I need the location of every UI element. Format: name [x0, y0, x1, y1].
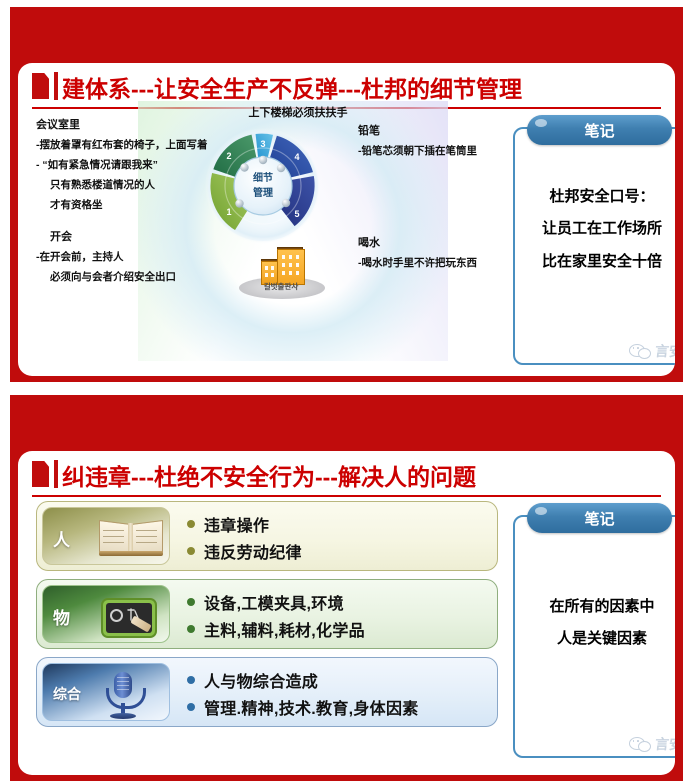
- blackboard-icon: [101, 598, 157, 638]
- detail-management-donut: 1 2 3 4 5 细节 管理: [204, 127, 322, 245]
- category-row-object: 物 设备,工模夹具,环境: [36, 579, 498, 649]
- donut-segment-number-5: 5: [294, 209, 299, 219]
- bullet-text: 违反劳动纪律: [204, 539, 302, 563]
- slide-2-title-row: 纠违章---杜绝不安全行为---解决人的问题: [30, 459, 663, 493]
- slide-2-content: 纠违章---杜绝不安全行为---解决人的问题 人: [18, 451, 675, 775]
- donut-segment-number-1: 1: [226, 207, 231, 217]
- block-open-meeting-line-2: 必须向与会者介绍安全出口: [36, 268, 226, 288]
- bullet-dot-icon: [187, 547, 195, 555]
- block-meeting-room: 会议室里 -摆放着罩有红布套的椅子，上面写着 - “如有紧急情况请跟我来” 只有…: [36, 115, 216, 216]
- list-item: 违章操作: [187, 510, 487, 537]
- bullet-dot-icon: [187, 625, 195, 633]
- building-icon: 길벗출판사: [231, 247, 331, 301]
- flag-icon: [32, 461, 49, 487]
- wechat-icon: [629, 343, 653, 359]
- bullet-text: 主料,辅料,耗材,化学品: [204, 617, 365, 641]
- slide-1-content: 建体系---让安全生产不反弹---杜邦的细节管理 会议室里 -摆放着罩有红布套的…: [18, 63, 675, 376]
- block-water-line-1: -喝水时手里不许把玩东西: [358, 254, 518, 274]
- flag-icon: [32, 73, 49, 99]
- bullet-dot-icon: [187, 703, 195, 711]
- donut-svg: 1 2 3 4 5: [204, 127, 322, 245]
- note-line-2: 让员工在工作场所: [523, 213, 675, 245]
- list-item: 管理.精神,技术.教育,身体因素: [187, 693, 487, 720]
- note-tab-label: 笔记: [527, 503, 672, 533]
- bullet-text: 人与物综合造成: [204, 668, 318, 692]
- book-icon: [99, 522, 163, 556]
- block-pencil: 铅笔 -铅笔芯须朝下插在笔筒里: [358, 121, 518, 162]
- category-label: 物: [53, 604, 70, 629]
- block-pencil-line-1: -铅笔芯须朝下插在笔筒里: [358, 142, 518, 162]
- note-line-3: 比在家里安全十倍: [523, 246, 675, 278]
- donut-segment-number-4: 4: [294, 152, 299, 162]
- page-title: 建体系---让安全生产不反弹---杜邦的细节管理: [62, 70, 522, 104]
- block-meeting-room-heading: 会议室里: [36, 115, 216, 136]
- bullet-text: 管理.精神,技术.教育,身体因素: [204, 695, 419, 719]
- block-pencil-heading: 铅笔: [358, 121, 518, 142]
- category-label: 人: [53, 526, 70, 551]
- wechat-icon: [629, 736, 653, 752]
- list-item: 人与物综合造成: [187, 666, 487, 693]
- note-line-1: 杜邦安全口号：: [523, 181, 675, 213]
- block-meeting-room-line-2: - “如有紧急情况请跟我来”: [36, 156, 216, 176]
- watermark: 言安: [629, 734, 675, 754]
- block-meeting-room-line-1: -摆放着罩有红布套的椅子，上面写着: [36, 136, 216, 156]
- page-title: 纠违章---杜绝不安全行为---解决人的问题: [62, 458, 476, 492]
- bullet-text: 违章操作: [204, 512, 269, 536]
- category-icon-panel: 物: [42, 585, 170, 643]
- note-tab: 笔记: [527, 115, 672, 145]
- watermark-text: 言安: [654, 734, 675, 754]
- slide-1-body: 会议室里 -摆放着罩有红布套的椅子，上面写着 - “如有紧急情况请跟我来” 只有…: [18, 107, 675, 376]
- microphone-icon: [105, 672, 141, 720]
- block-open-meeting-heading: 开会: [36, 227, 226, 248]
- category-row-person: 人: [36, 501, 498, 571]
- block-open-meeting: 开会 -在开会前，主持人 必须向与会者介绍安全出口: [36, 227, 226, 288]
- note-line-1: 在所有的因素中: [523, 591, 675, 623]
- building-caption: 길벗출판사: [231, 281, 331, 292]
- bullet-dot-icon: [187, 520, 195, 528]
- bullet-text: 设备,工模夹具,环境: [204, 590, 344, 614]
- note-tab: 笔记: [527, 503, 672, 533]
- slide-2-body: 人: [18, 495, 675, 775]
- note-card-slide-2: 笔记 在所有的因素中 人是关键因素 言安: [513, 503, 675, 758]
- watermark-text: 言安: [654, 341, 675, 361]
- bullet-list: 人与物综合造成 管理.精神,技术.教育,身体因素: [187, 666, 487, 720]
- block-open-meeting-line-1: -在开会前，主持人: [36, 248, 226, 268]
- category-icon-panel: 人: [42, 507, 170, 565]
- title-accent-bar: [54, 460, 58, 488]
- bullet-list: 违章操作 违反劳动纪律: [187, 510, 487, 564]
- block-stairs-heading: 上下楼梯必须扶扶手: [249, 107, 348, 119]
- list-item: 违反劳动纪律: [187, 537, 487, 564]
- note-body: 杜邦安全口号： 让员工在工作场所 比在家里安全十倍: [523, 181, 675, 278]
- title-accent-bar: [54, 72, 58, 100]
- bullet-dot-icon: [187, 676, 195, 684]
- bullet-dot-icon: [187, 598, 195, 606]
- slide-1: 建体系---让安全生产不反弹---杜邦的细节管理 会议室里 -摆放着罩有红布套的…: [10, 7, 683, 382]
- block-meeting-room-line-4: 才有资格坐: [36, 196, 216, 216]
- note-body: 在所有的因素中 人是关键因素: [523, 591, 675, 656]
- donut-segment-number-2: 2: [226, 151, 231, 161]
- list-item: 设备,工模夹具,环境: [187, 588, 487, 615]
- block-water-heading: 喝水: [358, 233, 518, 254]
- block-water: 喝水 -喝水时手里不许把玩东西: [358, 233, 518, 274]
- watermark: 言安: [629, 341, 675, 361]
- note-line-2: 人是关键因素: [523, 623, 675, 655]
- list-item: 主料,辅料,耗材,化学品: [187, 615, 487, 642]
- slide-2: 纠违章---杜绝不安全行为---解决人的问题 人: [10, 395, 683, 781]
- building-tower: [277, 249, 305, 285]
- donut-segment-number-3: 3: [260, 139, 265, 149]
- note-tab-label: 笔记: [527, 115, 672, 145]
- note-card-slide-1: 笔记 杜邦安全口号： 让员工在工作场所 比在家里安全十倍 言安: [513, 115, 675, 365]
- block-stairs: 上下楼梯必须扶扶手: [218, 103, 378, 124]
- category-label: 综合: [53, 684, 81, 704]
- slides-page: 建体系---让安全生产不反弹---杜邦的细节管理 会议室里 -摆放着罩有红布套的…: [0, 0, 693, 781]
- category-icon-panel: 综合: [42, 663, 170, 721]
- slide-1-title-row: 建体系---让安全生产不反弹---杜邦的细节管理: [30, 71, 663, 105]
- bullet-list: 设备,工模夹具,环境 主料,辅料,耗材,化学品: [187, 588, 487, 642]
- block-meeting-room-line-3: 只有熟悉楼道情况的人: [36, 176, 216, 196]
- category-row-combined: 综合 人与物综合造成: [36, 657, 498, 727]
